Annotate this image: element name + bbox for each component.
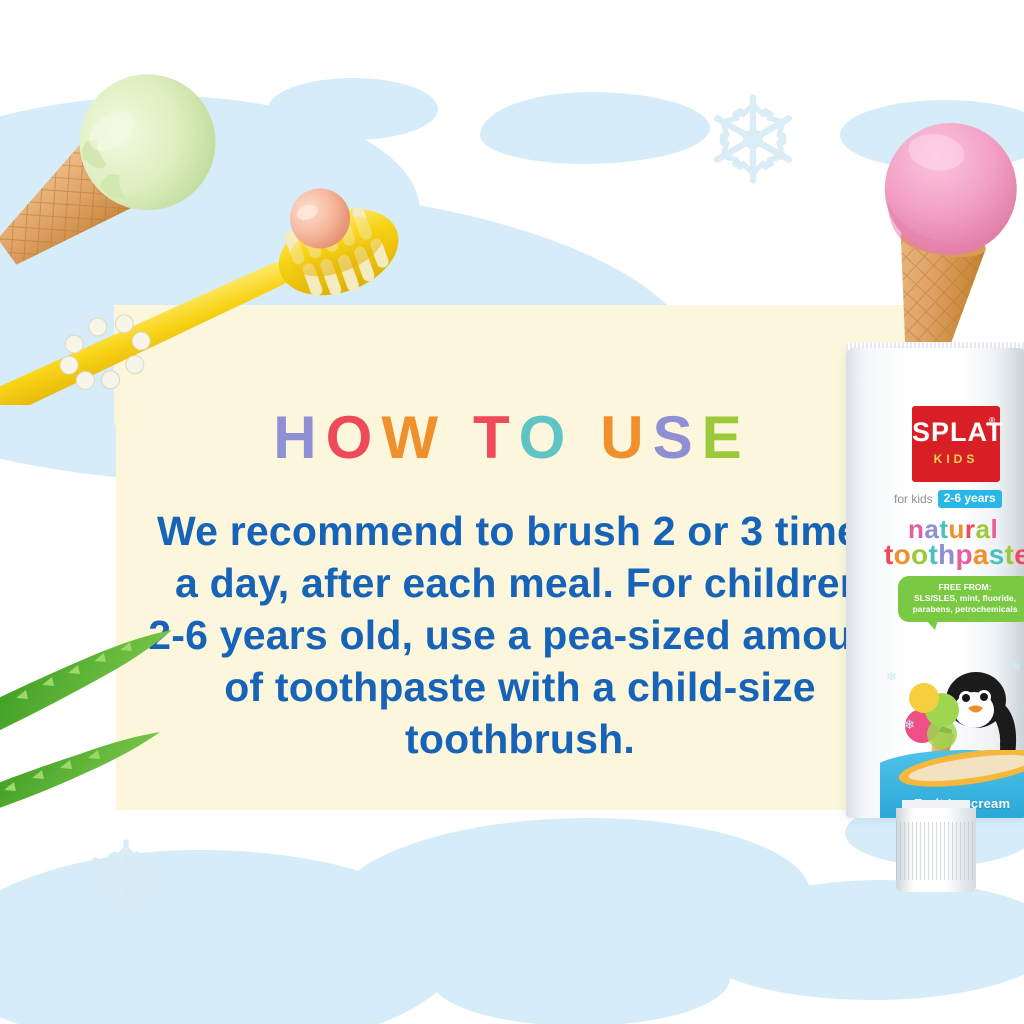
snowflake-icon: ❄ [886, 670, 897, 683]
title-letter-u-7: U [600, 408, 652, 468]
tube-body: SPLAT® KIDS for kids 2-6 years natural t… [846, 348, 1024, 818]
age-range-badge: 2-6 years [938, 490, 1002, 508]
background-blob [430, 930, 730, 1024]
splat-brand-logo: SPLAT® KIDS [912, 406, 1000, 482]
instructions-line-2: a day, after each meal. For children [128, 557, 912, 609]
toothpaste-tube: SPLAT® KIDS for kids 2-6 years natural t… [838, 330, 1024, 890]
product-name-letter-1: o [894, 539, 911, 570]
poster-canvas: HOWTOUSE We recommend to brush 2 or 3 ti… [0, 0, 1024, 1024]
background-blob [480, 92, 710, 164]
brand-sub-label: KIDS [912, 453, 1000, 465]
product-name-letter-7: s [989, 539, 1005, 570]
free-from-heading: FREE FROM: [902, 582, 1024, 593]
product-name-letter-6: a [973, 539, 989, 570]
product-name-letter-4: h [938, 539, 955, 570]
product-name-letter-3: t [928, 539, 938, 570]
title-letter-t-4: T [473, 408, 519, 468]
free-from-badge: FREE FROM: SLS/SLES, mint, fluoride, par… [898, 576, 1024, 622]
product-name-letter-2: o [911, 539, 928, 570]
toothbrush [0, 185, 550, 405]
age-row: for kids 2-6 years [894, 490, 1024, 508]
instructions-line-4: of toothpaste with a child-size toothbru… [128, 661, 912, 765]
registered-mark: ® [989, 417, 996, 425]
title-letter-s-8: S [653, 408, 702, 468]
title-letter-h-0: H [273, 408, 325, 468]
tube-cap [896, 808, 976, 892]
product-name-letter-8: t [1005, 539, 1015, 570]
product-name-letter-0: t [884, 539, 894, 570]
product-name-letter-5: p [955, 539, 972, 570]
free-from-items: SLS/SLES, mint, fluoride, parabens, petr… [913, 593, 1018, 614]
snowflake-icon: ❄ [904, 718, 915, 731]
product-name-letter-9: e [1014, 539, 1024, 570]
background-blob [150, 940, 400, 1024]
title-letter-o-5: O [519, 408, 575, 468]
title-letter-o-1: O [326, 408, 382, 468]
aloe-vera-leaves [0, 628, 226, 818]
snowflake-icon: ❄ [1010, 660, 1021, 673]
instructions-text: We recommend to brush 2 or 3 timesa day,… [128, 505, 912, 765]
title-letter-w-2: W [381, 408, 447, 468]
product-name-line-2: toothpaste [884, 541, 1024, 569]
penguin-scene: ❄ ❄ ❄ ❄ [880, 640, 1024, 818]
title-letter-e-9: E [702, 408, 751, 468]
for-kids-label: for kids [894, 492, 933, 506]
snowflake-icon [700, 86, 806, 192]
snowflake-icon [80, 832, 172, 924]
instructions-line-3: 2-6 years old, use a pea-sized amount [128, 609, 912, 661]
instructions-line-1: We recommend to brush 2 or 3 times [128, 505, 912, 557]
background-blob [268, 78, 438, 140]
